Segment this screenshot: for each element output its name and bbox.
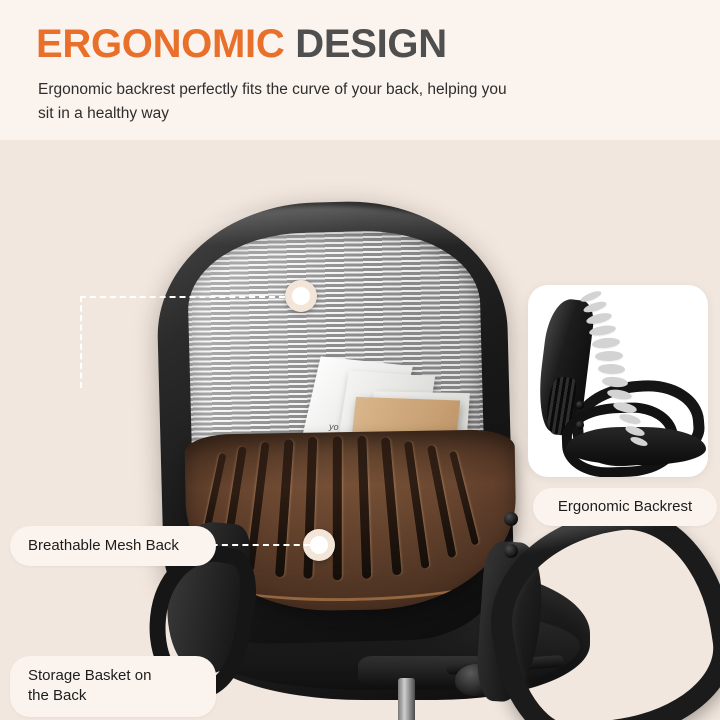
gas-cylinder: [398, 678, 415, 720]
title-highlight: ERGONOMIC: [36, 22, 284, 66]
title-rest: DESIGN: [284, 22, 446, 66]
subtitle-text: Ergonomic backrest perfectly fits the cu…: [38, 78, 518, 126]
product-photo: yo yo: [0, 140, 720, 720]
infographic-canvas: ERGONOMIC DESIGN Ergonomic backrest perf…: [0, 0, 720, 720]
book-logo-1: yo: [328, 421, 340, 432]
callout-storage-basket[interactable]: Storage Basket on the Back: [10, 656, 216, 717]
page-title: ERGONOMIC DESIGN: [36, 24, 447, 64]
inset-card-ergonomic-backrest[interactable]: [528, 285, 708, 477]
armrest-bolt-upper: [504, 512, 518, 526]
inset-caption-ergonomic-backrest: Ergonomic Backrest: [533, 488, 717, 526]
marker-dot-mesh: [285, 280, 317, 312]
callout-breathable-mesh-back[interactable]: Breathable Mesh Back: [10, 526, 216, 566]
leader-line-mesh-vertical: [80, 296, 82, 388]
header-band: ERGONOMIC DESIGN Ergonomic backrest perf…: [0, 0, 720, 140]
armrest-bolt-lower: [504, 544, 518, 558]
inset-bolt-upper: [576, 401, 584, 409]
leader-line-mesh-horizontal: [80, 296, 285, 298]
inset-bolt-lower: [576, 421, 584, 429]
